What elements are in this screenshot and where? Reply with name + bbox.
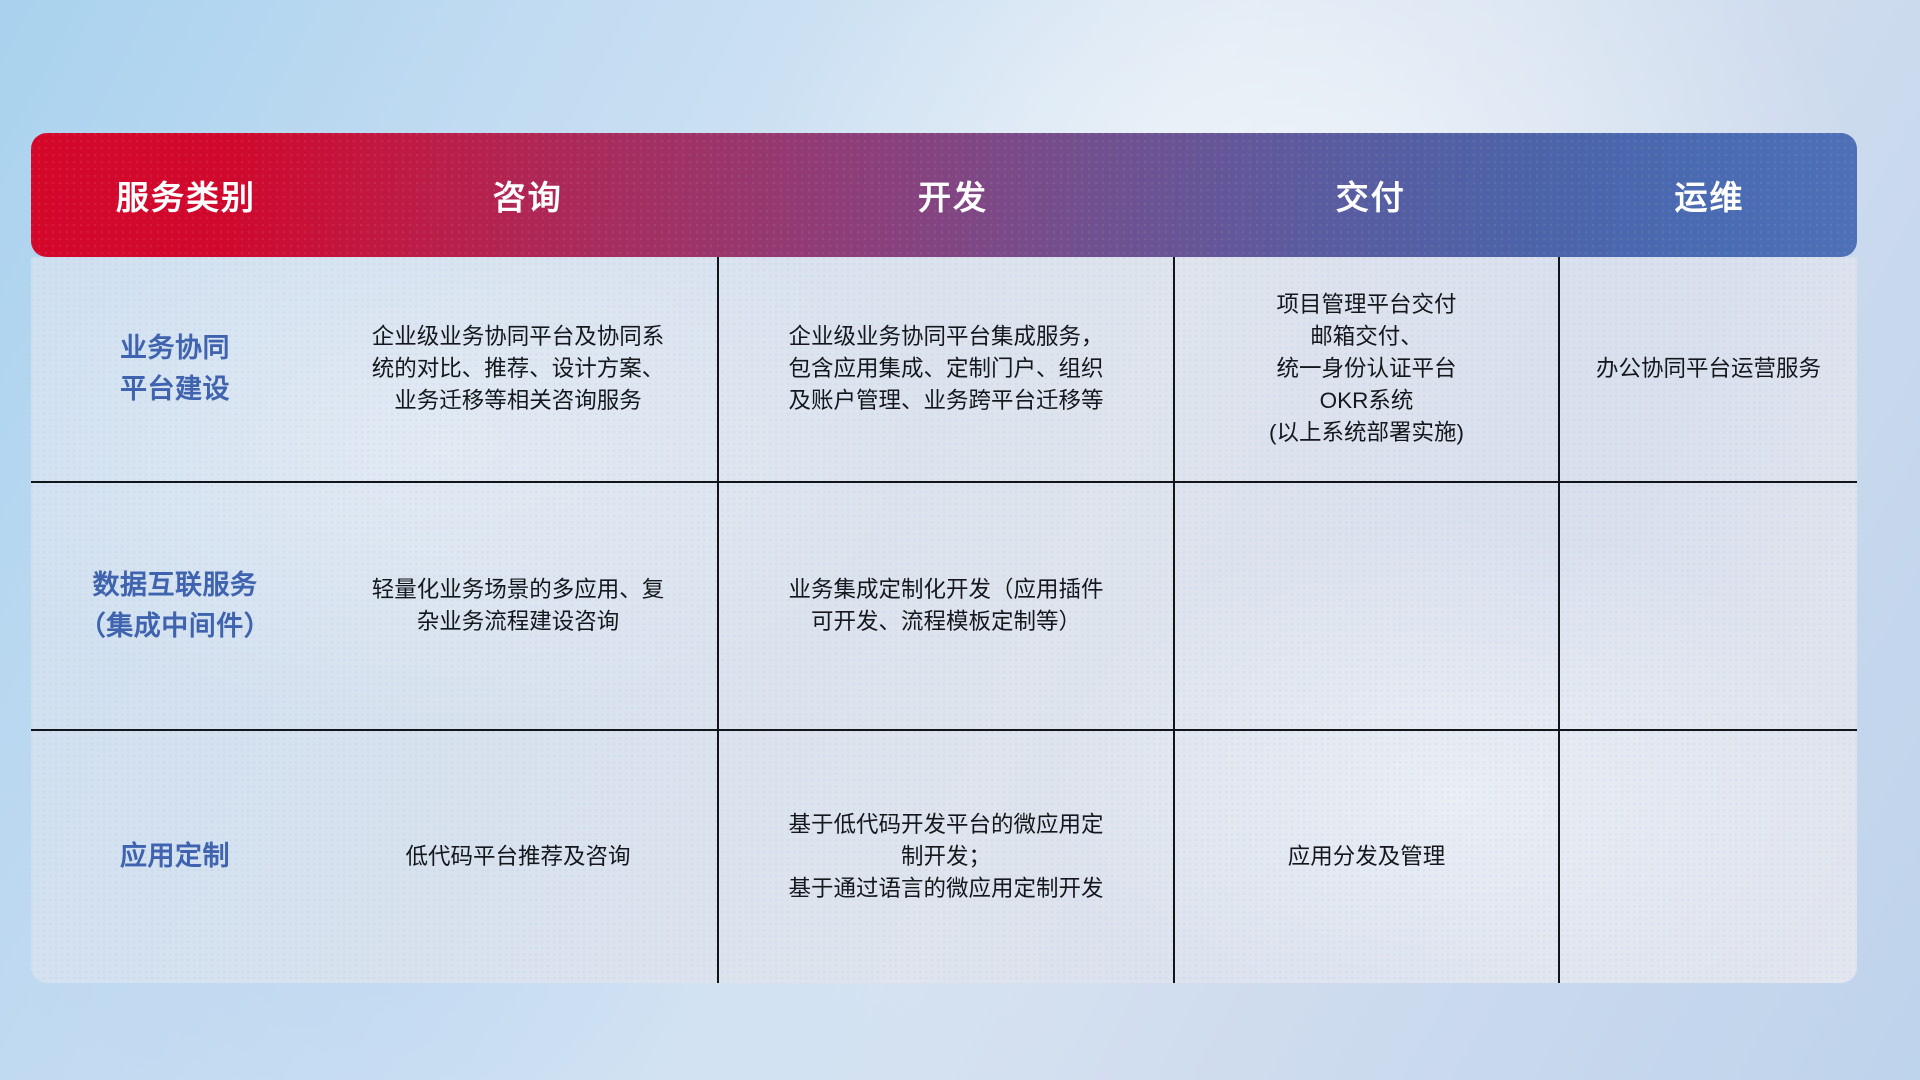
cell-row0-development: 企业级业务协同平台集成服务， 包含应用集成、定制门户、组织 及账户管理、业务跨平… xyxy=(719,257,1175,481)
row-label-business-collaboration: 业务协同 平台建设 xyxy=(31,257,319,481)
table-row: 应用定制 低代码平台推荐及咨询 基于低代码开发平台的微应用定 制开发； 基于通过… xyxy=(31,731,1857,983)
column-header-consulting: 咨询 xyxy=(329,133,726,257)
cell-row0-consulting: 企业级业务协同平台及协同系 统的对比、推荐、设计方案、 业务迁移等相关咨询服务 xyxy=(319,257,719,481)
column-header-development: 开发 xyxy=(726,133,1179,257)
cell-row2-development: 基于低代码开发平台的微应用定 制开发； 基于通过语言的微应用定制开发 xyxy=(719,731,1175,983)
cell-row1-development: 业务集成定制化开发（应用插件 可开发、流程模板定制等） xyxy=(719,483,1175,729)
cell-row0-delivery: 项目管理平台交付 邮箱交付、 统一身份认证平台 OKR系统 (以上系统部署实施) xyxy=(1175,257,1560,481)
column-header-operations: 运维 xyxy=(1562,133,1857,257)
table-body: 业务协同 平台建设 企业级业务协同平台及协同系 统的对比、推荐、设计方案、 业务… xyxy=(31,257,1857,983)
cell-row2-consulting: 低代码平台推荐及咨询 xyxy=(319,731,719,983)
column-header-delivery: 交付 xyxy=(1179,133,1561,257)
cell-row1-operations xyxy=(1560,483,1857,729)
row-label-data-interconnect: 数据互联服务 （集成中间件） xyxy=(31,483,319,729)
cell-row0-operations: 办公协同平台运营服务 xyxy=(1560,257,1857,481)
table-header-row: 服务类别 咨询 开发 交付 运维 xyxy=(31,133,1857,257)
table-row: 业务协同 平台建设 企业级业务协同平台及协同系 统的对比、推荐、设计方案、 业务… xyxy=(31,257,1857,483)
row-label-app-customization: 应用定制 xyxy=(31,731,319,983)
cell-row1-delivery xyxy=(1175,483,1560,729)
cell-row1-consulting: 轻量化业务场景的多应用、复 杂业务流程建设咨询 xyxy=(319,483,719,729)
cell-row2-operations xyxy=(1560,731,1857,983)
cell-row2-delivery: 应用分发及管理 xyxy=(1175,731,1560,983)
service-matrix-table: 服务类别 咨询 开发 交付 运维 业务协同 平台建设 企业级业务协同平台及协同系… xyxy=(31,133,1857,983)
slide-canvas: 服务类别 咨询 开发 交付 运维 业务协同 平台建设 企业级业务协同平台及协同系… xyxy=(0,0,1920,1080)
column-header-category: 服务类别 xyxy=(31,133,329,257)
table-row: 数据互联服务 （集成中间件） 轻量化业务场景的多应用、复 杂业务流程建设咨询 业… xyxy=(31,483,1857,731)
